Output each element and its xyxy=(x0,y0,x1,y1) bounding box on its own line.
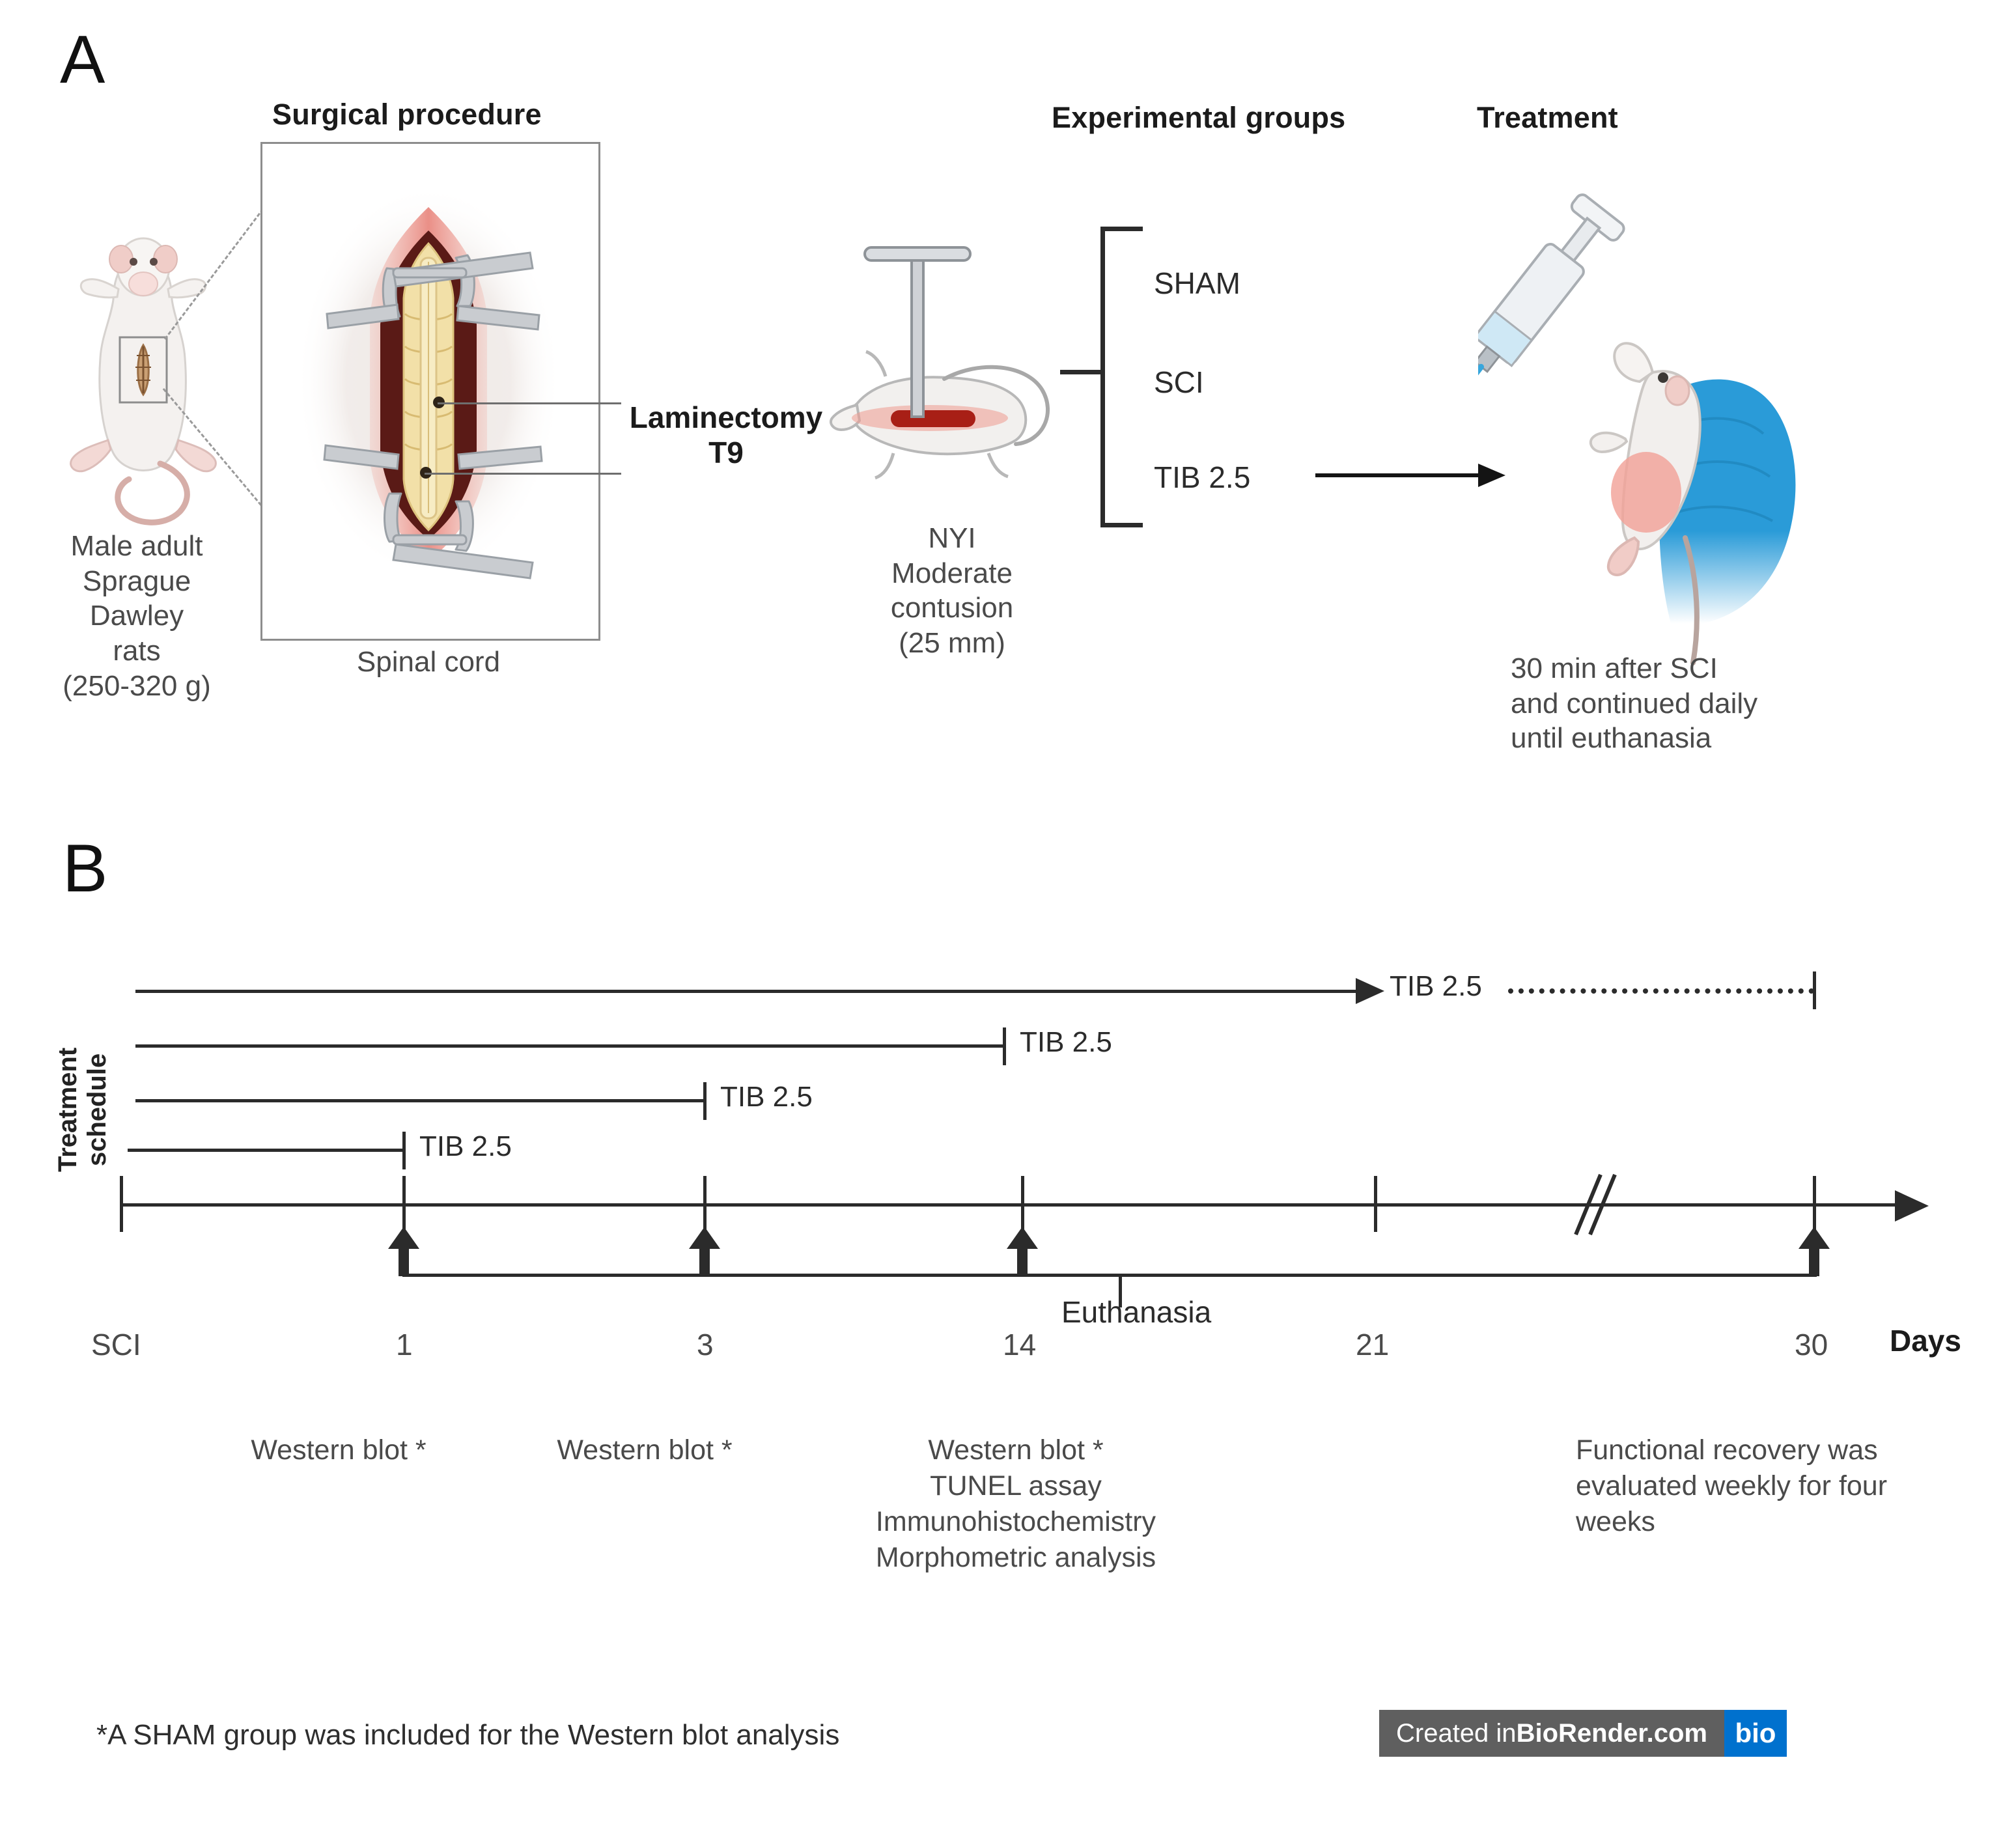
heading-surgical-procedure: Surgical procedure xyxy=(272,98,542,132)
schedule-bar-1d-endcap xyxy=(402,1132,406,1169)
heading-treatment: Treatment xyxy=(1477,101,1618,135)
assay-day30-line-1: Functional recovery was xyxy=(1576,1432,2016,1468)
schedule-bar-14d xyxy=(135,1044,1005,1048)
animal-caption-line-4: rats xyxy=(13,634,260,669)
schedule-bar-14d-label: TIB 2.5 xyxy=(1020,1026,1112,1059)
day-label-1: 1 xyxy=(396,1327,413,1362)
laminectomy-label: Laminectomy T9 xyxy=(619,400,833,471)
schedule-bar-30d-dotted-tail xyxy=(1508,988,1814,994)
laminectomy-pointer-upper xyxy=(438,402,621,404)
treatment-caption: 30 min after SCI and continued daily unt… xyxy=(1511,651,1967,756)
assay-day14-line-3: Immunohistochemistry xyxy=(814,1504,1218,1540)
schedule-bar-3d xyxy=(135,1099,705,1102)
days-axis-title: Days xyxy=(1890,1323,1961,1358)
panel-a-letter: A xyxy=(60,26,105,94)
group-label-tib: TIB 2.5 xyxy=(1154,460,1250,495)
days-axis-line xyxy=(120,1203,1904,1207)
laminectomy-pointer-lower xyxy=(425,473,621,475)
axis-label-line-2: schedule xyxy=(83,1048,112,1172)
day-label-3: 3 xyxy=(697,1327,714,1362)
schedule-bar-14d-endcap xyxy=(1003,1027,1006,1065)
assay-day3-line-1: Western blot * xyxy=(514,1432,775,1468)
days-axis-tick-30 xyxy=(1813,1176,1816,1232)
laminectomy-illustration xyxy=(272,154,585,624)
spinal-cord-caption: Spinal cord xyxy=(260,645,596,680)
animal-caption-line-5: (250-320 g) xyxy=(13,669,260,704)
days-axis-tick-1 xyxy=(402,1176,406,1232)
animal-caption-line-1: Male adult xyxy=(13,529,260,564)
schedule-bar-30d xyxy=(135,990,1365,993)
nyi-caption: NYI Moderate contusion (25 mm) xyxy=(822,521,1082,661)
footnote-sham-note: *A SHAM group was included for the Weste… xyxy=(96,1719,839,1752)
day-label-sci: SCI xyxy=(91,1327,141,1362)
schedule-bar-1d-label: TIB 2.5 xyxy=(419,1130,512,1163)
treatment-caption-line-2: and continued daily xyxy=(1511,686,1967,721)
axis-break-marker xyxy=(1558,1172,1629,1237)
nyi-caption-line-1: NYI xyxy=(822,521,1082,556)
biorender-badge[interactable]: Created in BioRender.com bio xyxy=(1379,1710,1787,1757)
euthanasia-arrow-day1 xyxy=(385,1227,422,1276)
nyi-caption-line-4: (25 mm) xyxy=(822,626,1082,661)
assay-day14-line-2: TUNEL assay xyxy=(814,1468,1218,1504)
group-label-sci: SCI xyxy=(1154,365,1204,400)
animal-caption-line-2: Sprague xyxy=(13,564,260,599)
euthanasia-arrow-day14 xyxy=(1004,1227,1041,1276)
euthanasia-arrow-day30 xyxy=(1796,1227,1832,1276)
laminectomy-label-line2: T9 xyxy=(619,435,833,470)
group-label-sham: SHAM xyxy=(1154,266,1240,301)
oral-gavage-illustration xyxy=(1478,176,1843,697)
days-axis-arrowhead xyxy=(1895,1188,1934,1224)
days-axis-tick-21 xyxy=(1374,1176,1377,1232)
experimental-groups-bracket xyxy=(1100,227,1143,527)
nyi-caption-line-2: Moderate xyxy=(822,556,1082,591)
assay-day1-line-1: Western blot * xyxy=(208,1432,469,1468)
euthanasia-label: Euthanasia xyxy=(1061,1294,1211,1330)
treatment-caption-line-3: until euthanasia xyxy=(1511,721,1967,756)
days-axis-origin-cap xyxy=(120,1176,123,1232)
rat-supine-illustration xyxy=(46,221,241,534)
animal-caption-line-3: Dawley xyxy=(13,598,260,634)
euthanasia-bar xyxy=(402,1274,1817,1277)
day-label-14: 14 xyxy=(1003,1327,1036,1362)
assay-block-day3: Western blot * xyxy=(514,1432,775,1468)
assay-day30-line-3: weeks xyxy=(1576,1504,2016,1540)
schedule-bar-3d-label: TIB 2.5 xyxy=(720,1081,813,1113)
euthanasia-arrow-day3 xyxy=(686,1227,723,1276)
day-label-30: 30 xyxy=(1795,1327,1828,1362)
axis-label-line-1: Treatment xyxy=(53,1048,83,1172)
schedule-bar-30d-endcap xyxy=(1813,971,1816,1009)
biorender-prefix: Created in xyxy=(1396,1719,1517,1748)
assay-block-day30: Functional recovery was evaluated weekly… xyxy=(1576,1432,2016,1540)
schedule-bar-30d-arrowhead xyxy=(1356,975,1390,1007)
schedule-bar-30d-label: TIB 2.5 xyxy=(1390,970,1482,1003)
panel-b-letter: B xyxy=(63,835,107,902)
days-axis-tick-14 xyxy=(1021,1176,1024,1232)
assay-block-day14: Western blot * TUNEL assay Immunohistoch… xyxy=(814,1432,1218,1576)
experimental-groups-bracket-stem xyxy=(1060,370,1100,374)
day-label-21: 21 xyxy=(1356,1327,1389,1362)
treatment-schedule-axis-label: Treatment schedule xyxy=(53,1048,112,1172)
schedule-bar-3d-endcap xyxy=(703,1082,707,1120)
heading-experimental-groups: Experimental groups xyxy=(1052,101,1345,135)
assay-day30-line-2: evaluated weekly for four xyxy=(1576,1468,2016,1504)
nyi-impactor-illustration xyxy=(814,215,1087,488)
animal-caption: Male adult Sprague Dawley rats (250-320 … xyxy=(13,529,260,703)
days-axis-tick-3 xyxy=(703,1176,707,1232)
biorender-brand: BioRender.com xyxy=(1517,1719,1707,1748)
assay-day14-line-1: Western blot * xyxy=(814,1432,1218,1468)
treatment-caption-line-1: 30 min after SCI xyxy=(1511,651,1967,686)
schedule-bar-1d xyxy=(128,1149,404,1152)
assay-block-day1: Western blot * xyxy=(208,1432,469,1468)
nyi-caption-line-3: contusion xyxy=(822,591,1082,626)
biorender-logo: bio xyxy=(1724,1710,1787,1757)
biorender-badge-text: Created in BioRender.com xyxy=(1379,1710,1724,1757)
assay-day14-line-4: Morphometric analysis xyxy=(814,1540,1218,1576)
laminectomy-label-line1: Laminectomy xyxy=(619,400,833,435)
